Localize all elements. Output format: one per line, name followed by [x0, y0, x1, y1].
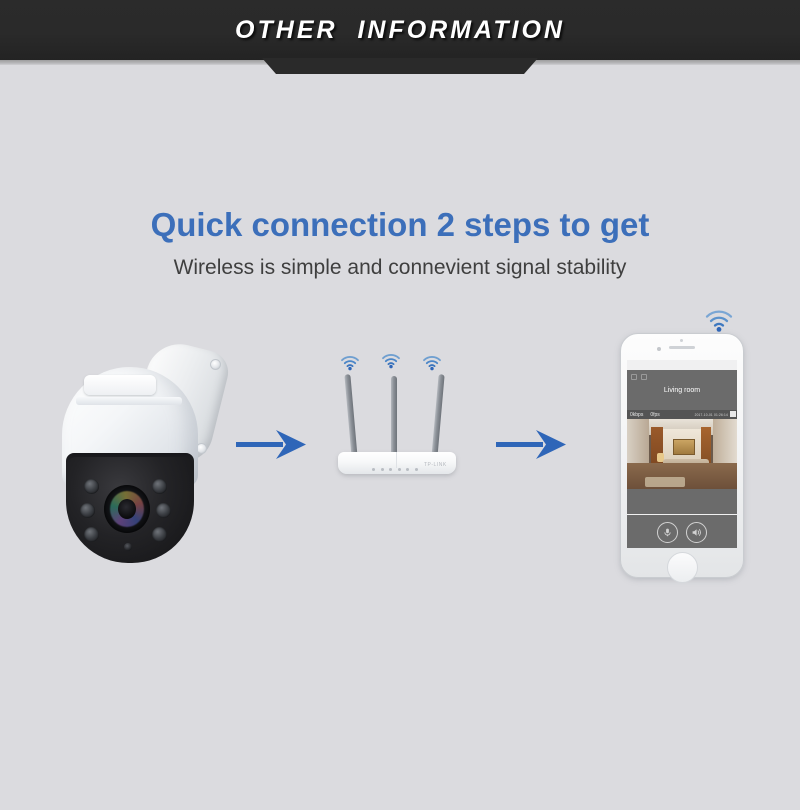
page-title: OTHER INFORMATION	[0, 0, 800, 60]
router-antenna	[344, 374, 358, 462]
framerate-value: 0fps	[650, 412, 659, 418]
phone-proximity-sensor-icon	[680, 339, 683, 342]
speaker-button[interactable]	[686, 522, 707, 543]
wifi-icon	[381, 353, 401, 374]
app-title-bar: Living room	[627, 370, 737, 410]
phone-front-camera-icon	[657, 347, 661, 351]
phone-screen: Living room 0kbps 0fps 2017-10-01 01:26:…	[627, 360, 737, 548]
router-led-icon	[415, 468, 418, 471]
video-rug	[645, 477, 685, 487]
app-status-bar	[627, 360, 737, 370]
header-tab	[262, 58, 538, 74]
phone-earpiece-speaker	[669, 346, 695, 349]
record-indicator-icon	[730, 411, 736, 417]
camera-dome-top-ridge	[84, 375, 156, 395]
router-led-icon	[372, 468, 375, 471]
light-sensor-icon	[124, 543, 132, 551]
wifi-icon	[422, 355, 442, 376]
speaker-icon	[691, 527, 702, 538]
bracket-screw-icon	[210, 359, 221, 370]
wifi-icon	[340, 355, 360, 376]
ir-led-icon	[152, 479, 167, 494]
ir-led-icon	[84, 479, 99, 494]
video-lower-panel	[627, 489, 737, 514]
smartphone: Living room 0kbps 0fps 2017-10-01 01:26:…	[620, 333, 744, 578]
router-led-icon	[406, 468, 409, 471]
heading-sub: Wireless is simple and connevient signal…	[0, 256, 800, 280]
router-antenna	[431, 374, 445, 462]
menu-icon[interactable]	[641, 374, 647, 380]
video-wall-picture	[673, 439, 695, 455]
camera-lens-core	[118, 499, 136, 519]
app-control-bar	[627, 514, 737, 548]
mic-button[interactable]	[657, 522, 678, 543]
live-video-feed[interactable]	[627, 419, 737, 489]
router-led-icon	[381, 468, 384, 471]
stream-info-bar: 0kbps 0fps 2017-10-01 01:26:14	[627, 410, 737, 419]
router-led-icon	[389, 468, 392, 471]
router-status-leds	[372, 468, 418, 471]
ir-led-icon	[84, 527, 99, 542]
heading-main: Quick connection 2 steps to get	[0, 206, 800, 244]
stream-timestamp: 2017-10-01 01:26:14	[695, 413, 728, 417]
back-icon[interactable]	[631, 374, 637, 380]
ptz-dome-camera	[58, 345, 238, 570]
arrow-camera-to-router	[236, 428, 308, 467]
phone-home-button[interactable]	[667, 552, 698, 583]
page-header: OTHER INFORMATION	[0, 0, 800, 76]
page-root: OTHER INFORMATION Quick connection 2 ste…	[0, 0, 800, 810]
arrow-router-to-phone	[496, 428, 568, 467]
camera-dome-notch	[76, 397, 182, 405]
router-led-icon	[398, 468, 401, 471]
router-brand-mark: TP-LINK	[424, 462, 447, 468]
ir-led-icon	[152, 527, 167, 542]
microphone-icon	[662, 527, 673, 538]
ir-led-icon	[80, 503, 95, 518]
router-antenna	[391, 376, 397, 464]
bitrate-value: 0kbps	[630, 412, 643, 418]
camera-channel-title: Living room	[664, 387, 700, 394]
router-body-seam	[396, 452, 397, 468]
ir-led-icon	[156, 503, 171, 518]
